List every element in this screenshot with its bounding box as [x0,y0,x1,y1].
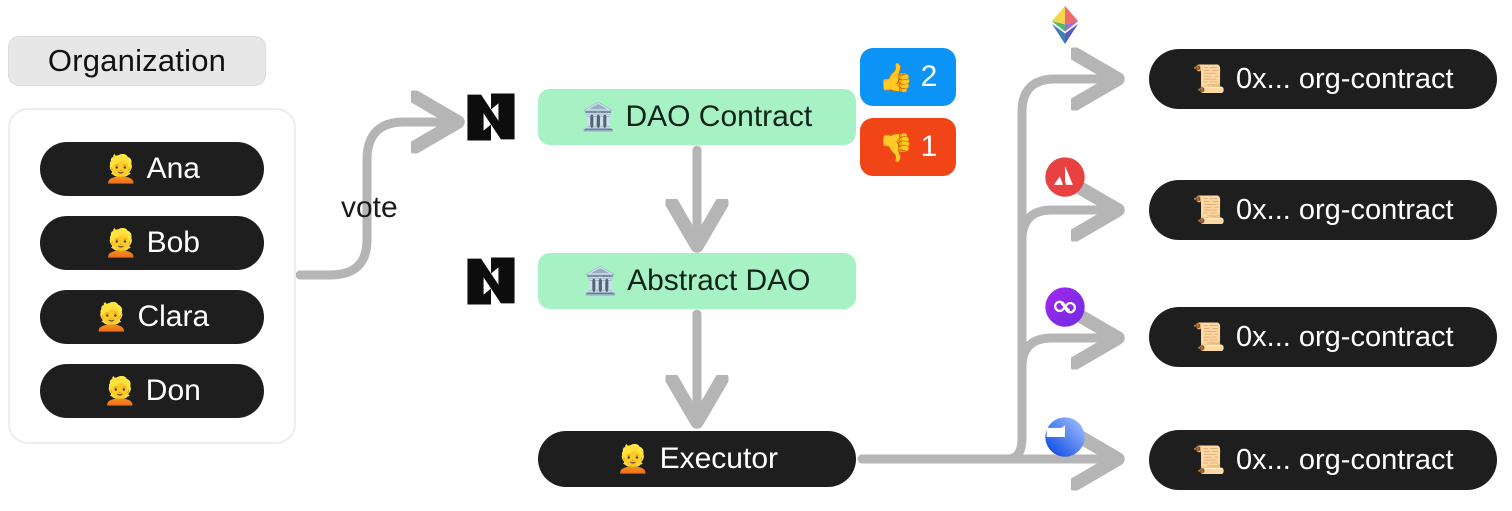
thumbs-up-emoji: 👍 [879,61,914,94]
classical-building-emoji: 🏛️ [583,265,617,297]
member-pill-don[interactable]: 👱 Don [40,364,264,418]
target-contract-base[interactable]: 📜 0x... org-contract [1149,430,1497,490]
member-name: Clara [137,300,209,334]
target-contract-polygon[interactable]: 📜 0x... org-contract [1149,307,1497,367]
vote-up-badge[interactable]: 👍 2 [860,48,956,106]
base-logo [1044,416,1086,458]
scroll-emoji: 📜 [1192,321,1226,353]
vote-up-count: 2 [921,60,938,94]
near-protocol-logo [460,86,522,148]
target-contract-ethereum[interactable]: 📜 0x... org-contract [1149,49,1497,109]
thumbs-down-emoji: 👎 [879,131,914,164]
avalanche-logo [1044,156,1086,198]
member-pill-bob[interactable]: 👱 Bob [40,216,264,270]
member-pill-clara[interactable]: 👱 Clara [40,290,264,344]
polygon-logo [1044,286,1086,328]
contract-label: 0x... org-contract [1236,321,1454,354]
dao-contract-node[interactable]: 🏛️ DAO Contract [538,89,856,145]
contract-label: 0x... org-contract [1236,194,1454,227]
person-emoji: 👱 [95,304,129,331]
dao-contract-label: DAO Contract [625,100,812,134]
person-emoji: 👱 [104,156,138,183]
member-name: Ana [147,152,200,186]
executor-label: Executor [660,442,778,476]
member-name: Don [146,374,201,408]
ethereum-logo [1044,4,1086,46]
person-emoji: 👱 [103,378,137,405]
member-pill-ana[interactable]: 👱 Ana [40,142,264,196]
diagram-canvas: Organization 👱 Ana 👱 Bob 👱 Clara 👱 Don v… [0,0,1512,511]
organization-label: Organization [8,36,266,86]
abstract-dao-node[interactable]: 🏛️ Abstract DAO [538,253,856,309]
classical-building-emoji: 🏛️ [582,101,616,133]
contract-label: 0x... org-contract [1236,444,1454,477]
branch-arrow-polygon [1022,338,1100,367]
contract-label: 0x... org-contract [1236,63,1454,96]
vote-down-badge[interactable]: 👎 1 [860,118,956,176]
near-protocol-logo [460,250,522,312]
member-name: Bob [147,226,200,260]
scroll-emoji: 📜 [1192,63,1226,95]
chain-fanout-trunk [1008,79,1100,459]
scroll-emoji: 📜 [1192,444,1226,476]
branch-arrow-avalanche [1022,210,1100,240]
vote-down-count: 1 [921,130,938,164]
vote-label: vote [341,191,398,225]
abstract-dao-label: Abstract DAO [627,264,810,298]
person-emoji: 👱 [616,443,650,475]
scroll-emoji: 📜 [1192,194,1226,226]
person-emoji: 👱 [104,230,138,257]
executor-node[interactable]: 👱 Executor [538,431,856,487]
target-contract-avalanche[interactable]: 📜 0x... org-contract [1149,180,1497,240]
